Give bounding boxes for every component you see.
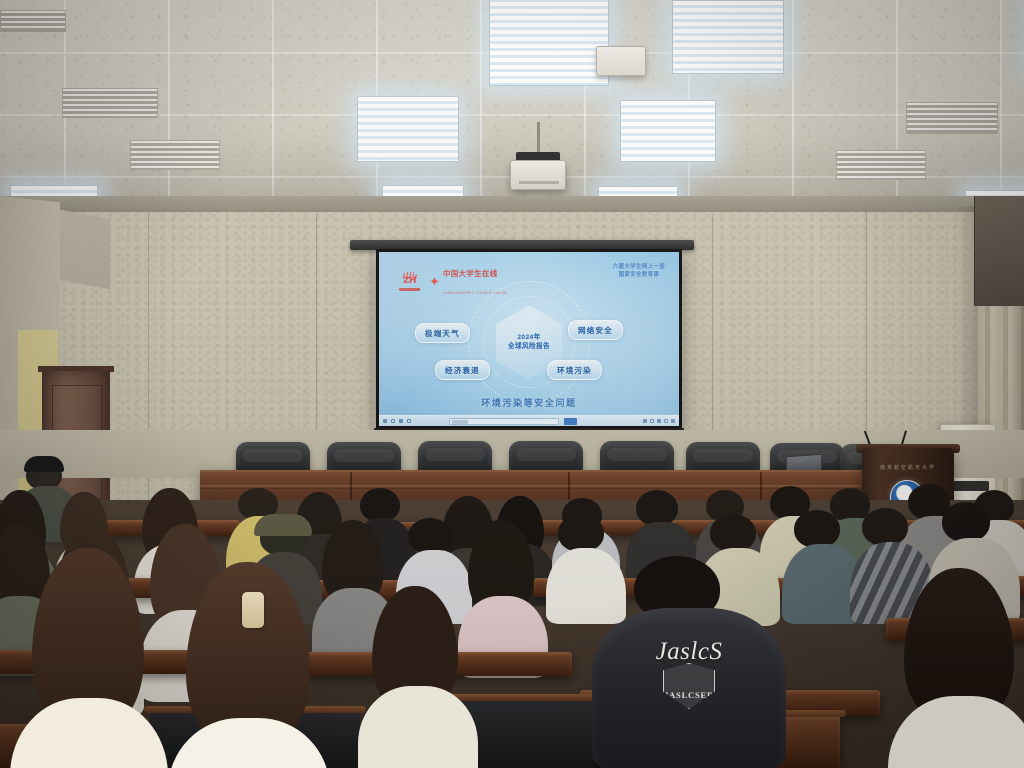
projection-screen-frame: ZH ✦ 中国大学生在线 CHINA UNIVERSITY STUDENT ON… bbox=[376, 249, 682, 429]
ceiling-speaker bbox=[596, 46, 646, 76]
partner-logo-cn: 中国大学生在线 bbox=[443, 269, 498, 278]
fluorescent-light-panel bbox=[672, 0, 784, 74]
shirt-shield-emblem: JASLCSER bbox=[663, 663, 715, 709]
center-hexagon-line2: 全球风险报告 bbox=[508, 342, 550, 352]
tray-icon[interactable] bbox=[664, 419, 668, 423]
shirt-script-text: JaslcS bbox=[592, 638, 786, 666]
hair-clip-icon bbox=[242, 592, 264, 628]
tray-icon[interactable] bbox=[671, 419, 675, 423]
taskbar-window-icon[interactable] bbox=[391, 419, 395, 423]
door-panel bbox=[52, 385, 102, 431]
ceiling-mounted-projector bbox=[510, 160, 566, 190]
tray-icon[interactable] bbox=[657, 419, 661, 423]
star-runner-icon: ✦ bbox=[429, 275, 440, 288]
bucket-hat-icon bbox=[254, 514, 312, 536]
shirt-graphic: JaslcS JASLCSER bbox=[592, 638, 786, 709]
tray-icon[interactable] bbox=[650, 419, 654, 423]
taskbar-search-button[interactable] bbox=[564, 418, 577, 425]
tray-icon[interactable] bbox=[643, 419, 647, 423]
risk-pill-economic-downturn: 经济衰退 bbox=[435, 360, 490, 380]
taskbar-app-icon[interactable] bbox=[399, 419, 403, 423]
slide-caption: 环境污染等安全问题 bbox=[379, 396, 679, 409]
person-head bbox=[942, 502, 990, 542]
fluorescent-light-panel bbox=[620, 100, 716, 162]
air-return-vent bbox=[0, 10, 66, 32]
person-head bbox=[794, 510, 840, 548]
center-hexagon-line1: 2024年 bbox=[517, 333, 540, 343]
taskbar-search-input[interactable] bbox=[449, 418, 559, 425]
logo-caption-bar bbox=[399, 288, 420, 291]
baseball-cap-icon bbox=[24, 456, 64, 472]
taskbar-tray[interactable] bbox=[643, 419, 675, 423]
ac-display-panel bbox=[949, 481, 989, 491]
person-head bbox=[862, 508, 908, 546]
wall-seam bbox=[866, 212, 867, 462]
air-return-vent bbox=[836, 150, 926, 180]
podium-nameplate: 南京航空航天大学 bbox=[870, 464, 946, 471]
logo-mark-text: ZH bbox=[403, 277, 416, 286]
fluorescent-light-panel bbox=[357, 96, 459, 162]
person-torso: JaslcS JASLCSER bbox=[592, 608, 786, 768]
wall-seam bbox=[712, 214, 713, 434]
risk-pill-cyber-security: 网络安全 bbox=[568, 320, 623, 340]
person-head bbox=[710, 514, 756, 552]
wall-seam bbox=[316, 214, 317, 434]
lecture-hall-photo: ZH ✦ 中国大学生在线 CHINA UNIVERSITY STUDENT ON… bbox=[0, 0, 1024, 768]
fluorescent-light-panel bbox=[489, 0, 609, 86]
air-return-vent bbox=[62, 88, 158, 118]
slide-tagline-line2: 国家安全教育课 bbox=[613, 272, 665, 280]
taskbar-start-icon[interactable] bbox=[383, 419, 387, 423]
shirt-shield-text: JASLCSER bbox=[664, 690, 714, 700]
risk-pill-extreme-weather: 极端天气 bbox=[415, 323, 470, 343]
risk-pill-environmental-pollution: 环境污染 bbox=[547, 360, 602, 380]
person-head bbox=[636, 490, 678, 526]
side-cabinet bbox=[974, 196, 1024, 306]
wall-soffit bbox=[0, 196, 1024, 212]
slide-tagline-line1: 六届大学生网上一堂 bbox=[613, 264, 665, 272]
person-torso bbox=[546, 548, 626, 624]
person-head bbox=[408, 518, 452, 554]
person-head bbox=[360, 488, 400, 522]
projected-slide: ZH ✦ 中国大学生在线 CHINA UNIVERSITY STUDENT ON… bbox=[379, 252, 679, 426]
broadcaster-logo-icon: ZH bbox=[399, 272, 420, 291]
slide-tagline: 六届大学生网上一堂 国家安全教育课 bbox=[613, 264, 665, 280]
taskbar-app-icon[interactable] bbox=[407, 419, 411, 423]
air-return-vent bbox=[906, 102, 998, 134]
air-return-vent bbox=[130, 140, 220, 170]
os-taskbar[interactable] bbox=[379, 415, 679, 426]
person-head bbox=[558, 514, 604, 552]
